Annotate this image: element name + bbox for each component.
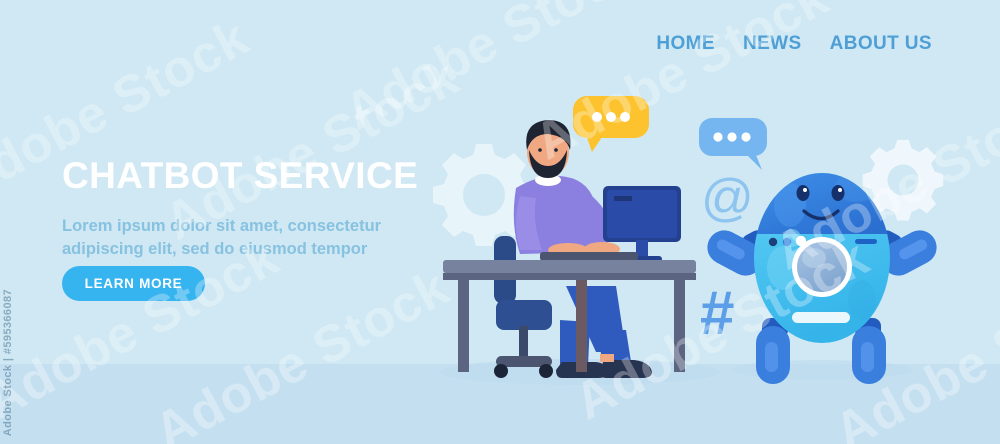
yellow-bubble-dot-1 — [592, 112, 602, 122]
robot-lens — [797, 242, 847, 292]
blue-bubble-dot-2 — [727, 132, 736, 141]
yellow-bubble-dot-2 — [606, 112, 616, 122]
robot-eye-left — [797, 185, 810, 201]
page-title: CHATBOT SERVICE — [62, 155, 418, 197]
gear-right-hole — [888, 165, 919, 196]
robot-mouth-bar — [792, 312, 850, 323]
blue-bubble-dot-3 — [741, 132, 750, 141]
robot-body-shade — [848, 280, 876, 320]
monitor-screen-content — [614, 196, 632, 201]
person-ankle — [600, 354, 614, 362]
nav-item-home[interactable]: HOME — [656, 33, 715, 55]
gear-left-hole — [463, 174, 505, 216]
desk-leg-left — [458, 280, 469, 372]
desk-leg-right — [674, 280, 685, 372]
robot-indicator-2 — [783, 238, 791, 246]
yellow-bubble-dot-3 — [620, 112, 630, 122]
blue-bubble-dot-1 — [713, 132, 722, 141]
at-symbol: @ — [701, 169, 754, 227]
stock-credit: Adobe Stock | #595366087 — [2, 289, 14, 436]
top-navigation: HOME NEWS ABOUT US — [656, 33, 932, 55]
desk-leg-mid — [576, 280, 587, 372]
robot-vent-dash — [855, 239, 877, 244]
person-eye-left — [538, 148, 542, 152]
learn-more-button[interactable]: LEARN MORE — [62, 266, 205, 301]
robot-lens-glint — [802, 248, 826, 268]
robot-eye-right-glint — [838, 188, 842, 192]
illustration-banner: @ # — [0, 0, 1000, 444]
robot-eye-right — [832, 185, 845, 201]
robot-indicator-1 — [769, 238, 777, 246]
nav-item-news[interactable]: NEWS — [743, 33, 802, 55]
keyboard — [540, 252, 638, 261]
nav-item-about-us[interactable]: ABOUT US — [830, 33, 932, 55]
robot-eye-left-glint — [803, 188, 807, 192]
person-eye-right — [554, 148, 558, 152]
hero-subcopy: Lorem ipsum dolor sit amet, consectetur … — [62, 215, 402, 262]
hash-symbol: # — [700, 279, 734, 348]
